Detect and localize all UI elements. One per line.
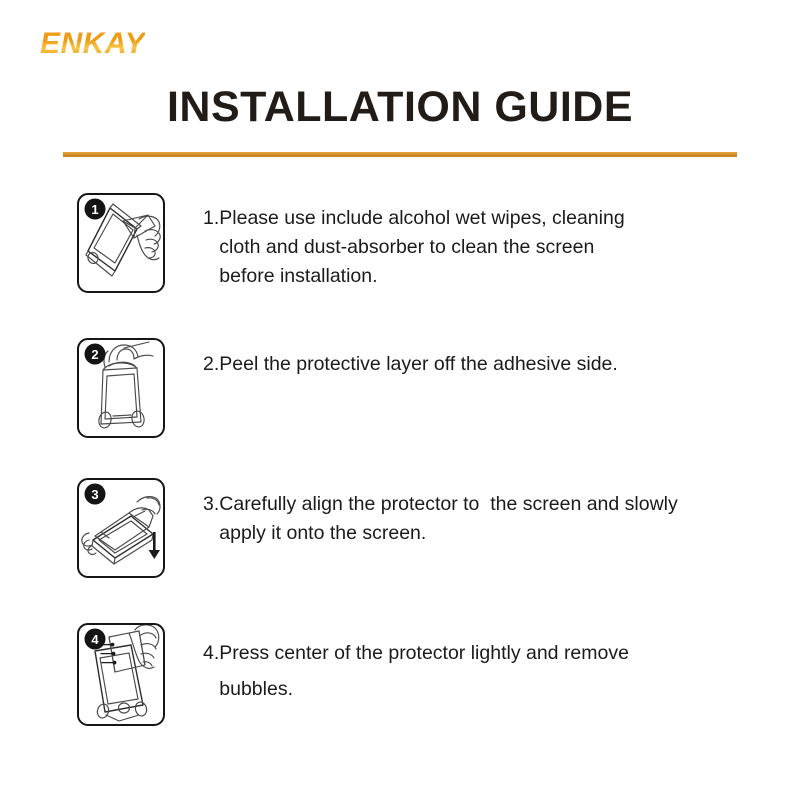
step-badge-number-3: 3: [91, 487, 98, 502]
installation-guide-page: ENKAY INSTALLATION GUIDE: [0, 0, 800, 800]
step-badge-number-1: 1: [91, 202, 98, 217]
wipe-screen-illustration: 1: [77, 193, 165, 293]
step-text-4: 4.Press center of the protector lightly …: [203, 635, 748, 707]
step-badge-number-2: 2: [91, 347, 98, 362]
step-text-3: 3.Carefully align the protector to the s…: [203, 490, 748, 548]
page-title: INSTALLATION GUIDE: [0, 83, 800, 132]
step-badge-number-4: 4: [91, 632, 99, 647]
align-protector-illustration: 3: [77, 478, 165, 578]
enkay-logo: ENKAY: [40, 27, 145, 61]
step-text-1: 1.Please use include alcohol wet wipes, …: [203, 204, 748, 291]
peel-layer-illustration: 2: [77, 338, 165, 438]
step-text-2: 2.Peel the protective layer off the adhe…: [203, 350, 748, 379]
title-divider: [63, 152, 737, 157]
press-bubbles-illustration: 4: [77, 623, 165, 726]
